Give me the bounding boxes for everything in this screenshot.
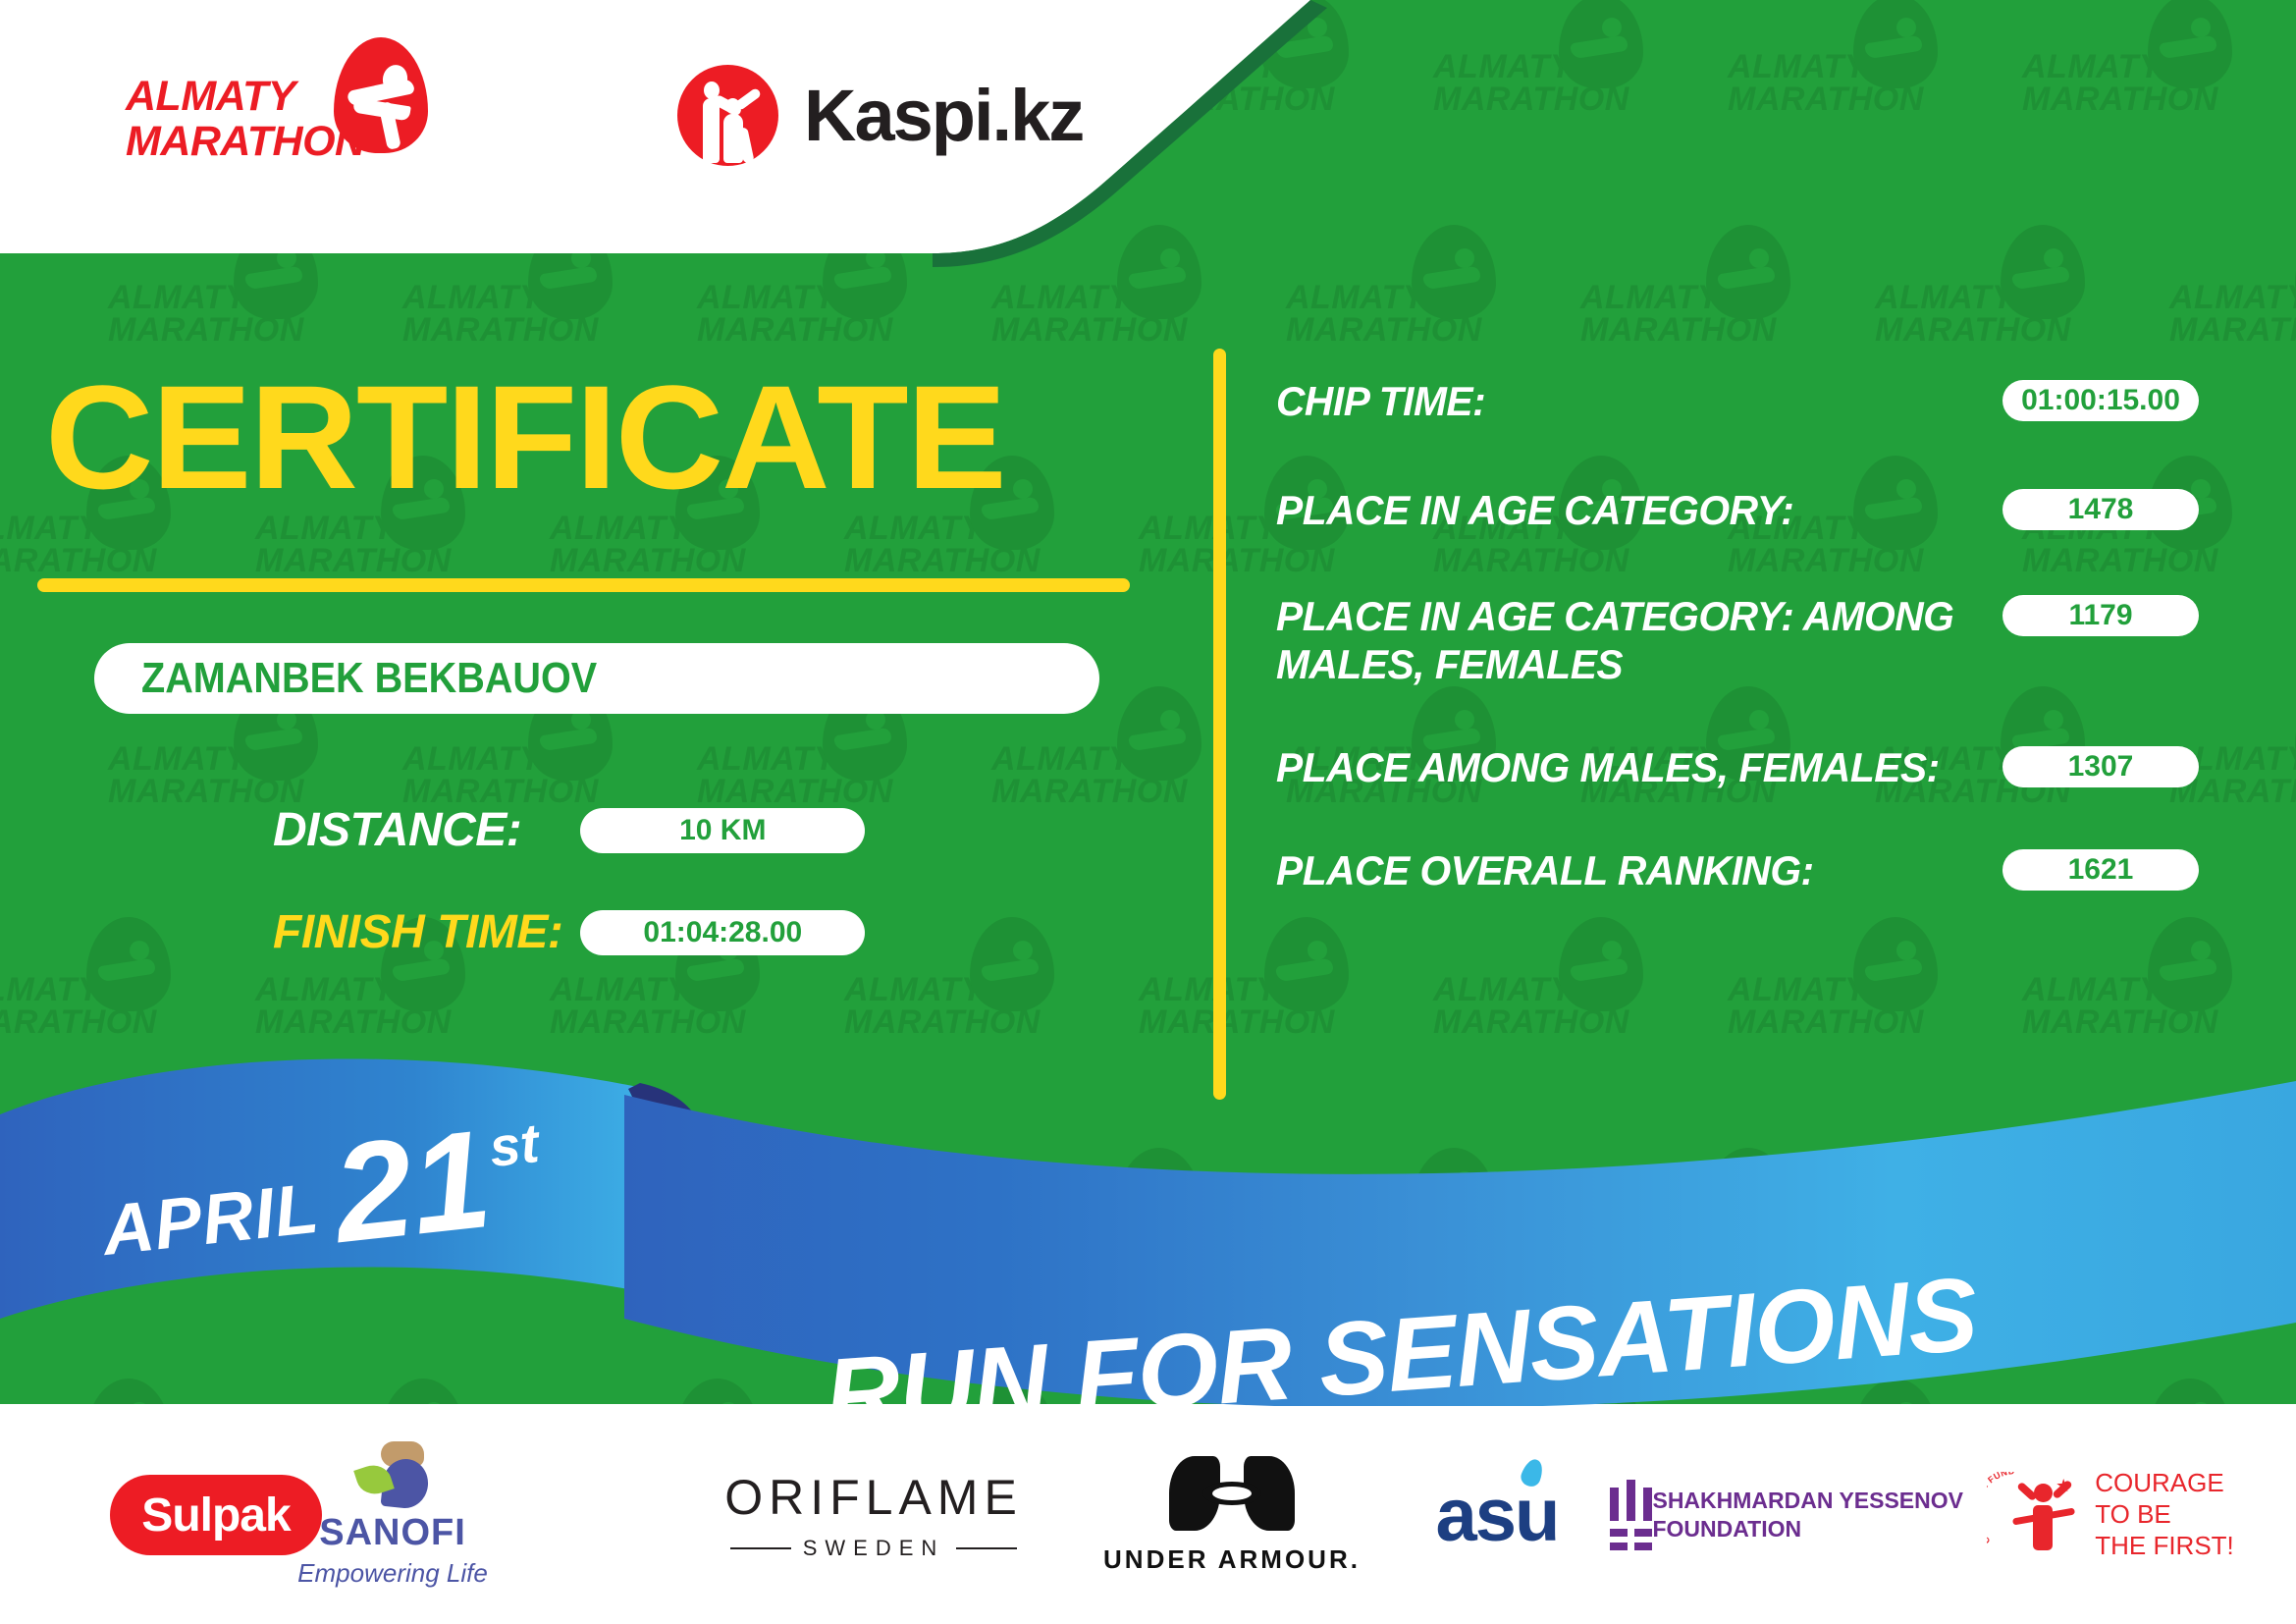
finish-time-row: FINISH TIME: 01:04:28.00 [273, 905, 865, 959]
courage-fund-icon: CORPORATE FUND ★ [1987, 1468, 2081, 1562]
asu-logo: asu [1436, 1473, 1559, 1558]
yessenov-line2: FOUNDATION [1652, 1516, 1801, 1542]
kaspi-adult-body [703, 98, 720, 163]
almaty-marathon-wordmark: ALMATY MARATHON [126, 75, 365, 164]
event-day-suffix: st [486, 1110, 542, 1179]
place-overall-label: PLACE OVERALL RANKING: [1276, 847, 1981, 895]
place-age-category-value: 1478 [2002, 489, 2199, 530]
sponsor-asu[interactable]: asu [1384, 1406, 1610, 1624]
kaspi-child-arm [734, 86, 763, 111]
sponsor-under-armour[interactable]: UNDER ARMOUR. [1085, 1406, 1379, 1624]
distance-label: DISTANCE: [273, 803, 521, 857]
yessenov-wordmark: SHAKHMARDAN YESSENOV FOUNDATION [1652, 1487, 1963, 1543]
event-day: 21 [329, 1122, 496, 1253]
title-underline [37, 578, 1130, 592]
marathon-line: MARATHON [126, 118, 365, 165]
kaspi-people-icon [677, 65, 778, 166]
sanofi-mark-icon [351, 1441, 434, 1508]
asu-wordmark: asu [1436, 1474, 1559, 1557]
almaty-marathon-logo[interactable]: ALMATY MARATHON [126, 61, 450, 179]
sponsor-sanofi[interactable]: SANOFI Empowering Life [245, 1406, 540, 1624]
results-list: CHIP TIME: 01:00:15.00 PLACE IN AGE CATE… [1276, 378, 2199, 938]
certificate-page: ALMATYMARATHONALMATYMARATHONALMATYMARATH… [0, 0, 2296, 1624]
under-armour-icon [1169, 1456, 1295, 1531]
oriflame-subline: SWEDEN [730, 1536, 1018, 1561]
stat-row: PLACE OVERALL RANKING: 1621 [1276, 847, 2199, 895]
participant-name-field: ZAMANBEK BEKBAUOV [94, 643, 1099, 714]
courage-runner-figure: ★ [2016, 1474, 2075, 1556]
runner-droplet-icon [334, 37, 428, 153]
column-divider [1213, 349, 1226, 1100]
sponsor-strip: Sulpak SANOFI Empowering Life ORIFLAME S… [0, 1406, 2296, 1624]
courage-line1: COURAGE [2095, 1468, 2223, 1497]
finish-time-label: FINISH TIME: [273, 905, 562, 959]
oriflame-wordmark: ORIFLAME [724, 1469, 1023, 1526]
sponsor-courage-fund[interactable]: CORPORATE FUND ★ COURAGE TO BE THE FIRST… [1963, 1406, 2258, 1624]
watermark-runner-icon [1117, 686, 1201, 781]
distance-row: DISTANCE: 10 KM [273, 803, 865, 857]
oriflame-country: SWEDEN [803, 1536, 945, 1561]
place-among-gender-label: PLACE AMONG MALES, FEMALES: [1276, 744, 1981, 792]
place-among-gender-value: 1307 [2002, 746, 2199, 787]
stat-row: PLACE IN AGE CATEGORY: 1478 [1276, 487, 2199, 535]
stat-row: CHIP TIME: 01:00:15.00 [1276, 378, 2199, 426]
oriflame-rule-right [956, 1547, 1017, 1549]
almaty-line: ALMATY [126, 73, 295, 120]
under-armour-wordmark: UNDER ARMOUR. [1103, 1544, 1361, 1575]
place-age-category-label: PLACE IN AGE CATEGORY: [1276, 487, 1981, 535]
chip-time-label: CHIP TIME: [1276, 378, 1981, 426]
courage-head [2034, 1484, 2053, 1502]
courage-line2: TO BE [2095, 1499, 2171, 1529]
finish-time-value: 01:04:28.00 [580, 910, 865, 955]
distance-value: 10 KM [580, 808, 865, 853]
watermark-runner-icon [86, 917, 171, 1011]
header-logos: ALMATY MARATHON Kaspi.kz [0, 0, 1178, 206]
page-title: CERTIFICATE [45, 363, 1005, 511]
yessenov-line1: SHAKHMARDAN YESSENOV [1652, 1488, 1963, 1513]
svg-text:CORPORATE FUND: CORPORATE FUND [1987, 1472, 2015, 1546]
courage-fund-wordmark: COURAGE TO BE THE FIRST! [2095, 1468, 2234, 1561]
sponsor-yessenov-foundation[interactable]: SHAKHMARDAN YESSENOV FOUNDATION [1610, 1406, 1963, 1624]
ua-hole [1212, 1487, 1252, 1500]
sanofi-tagline: Empowering Life [297, 1558, 488, 1589]
courage-line3: THE FIRST! [2095, 1531, 2234, 1560]
watermark-runner-icon [970, 917, 1054, 1011]
stat-row: PLACE AMONG MALES, FEMALES: 1307 [1276, 744, 2199, 792]
place-overall-value: 1621 [2002, 849, 2199, 891]
oriflame-rule-left [730, 1547, 791, 1549]
yessenov-bars-icon [1610, 1480, 1630, 1550]
place-age-category-gender-value: 1179 [2002, 595, 2199, 636]
sanofi-wordmark: SANOFI [319, 1512, 466, 1554]
chip-time-value: 01:00:15.00 [2002, 380, 2199, 421]
stat-row: PLACE IN AGE CATEGORY: AMONG MALES, FEMA… [1276, 593, 2199, 688]
participant-name: ZAMANBEK BEKBAUOV [141, 654, 597, 703]
place-age-category-gender-label: PLACE IN AGE CATEGORY: AMONG MALES, FEMA… [1276, 593, 1981, 688]
kaspi-wordmark: Kaspi.kz [804, 74, 1083, 157]
kaspi-logo[interactable]: Kaspi.kz [677, 61, 1090, 169]
